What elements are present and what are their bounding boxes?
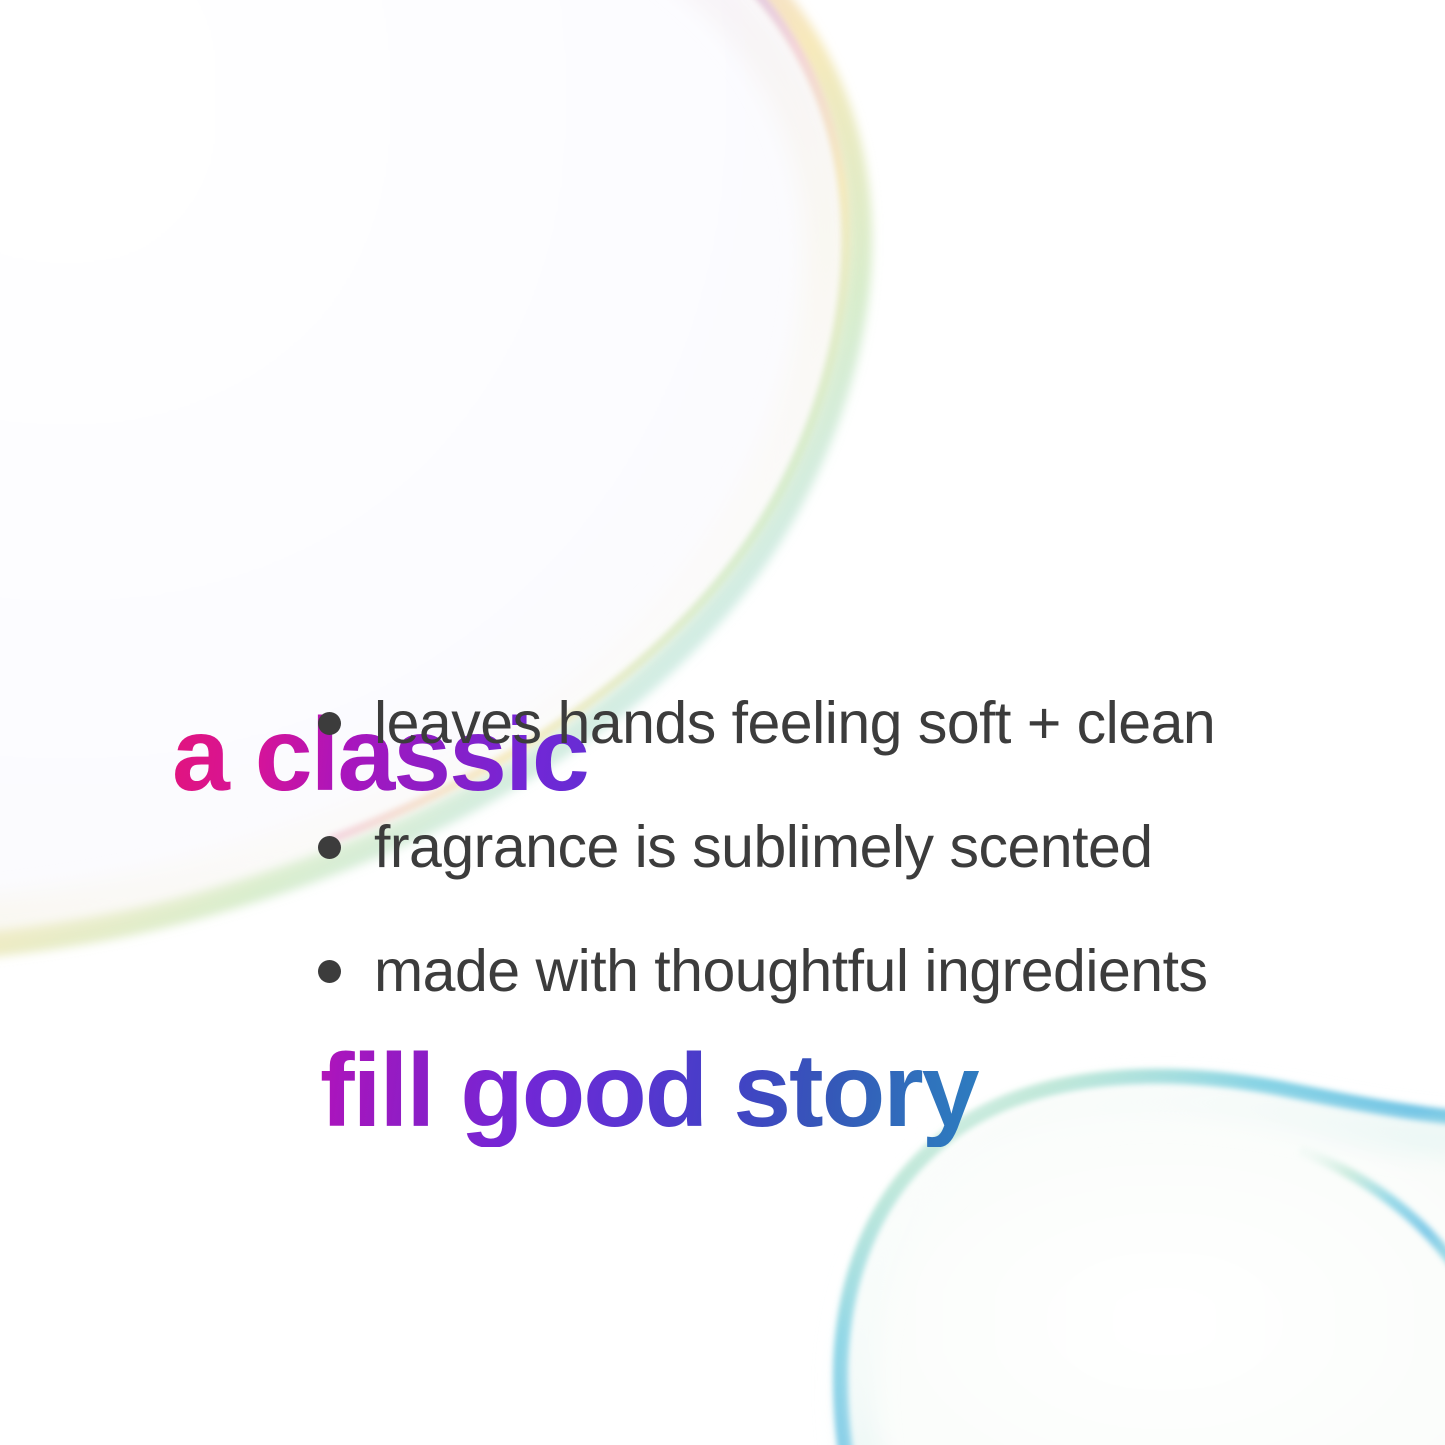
- headline-line-2: fill good story: [320, 1035, 1272, 1147]
- content-area: a classic fill good story leaves hands f…: [0, 0, 1445, 1445]
- bullet-dot-icon: [318, 712, 341, 735]
- list-item: fragrance is sublimely scented: [312, 802, 1322, 892]
- list-item-label: leaves hands feeling soft + clean: [374, 678, 1322, 768]
- feature-bullet-list: leaves hands feeling soft + clean fragra…: [312, 678, 1322, 1016]
- list-item-label: fragrance is sublimely scented: [374, 802, 1322, 892]
- list-item: leaves hands feeling soft + clean: [312, 678, 1322, 768]
- list-item: made with thoughtful ingredients: [312, 926, 1322, 1016]
- list-item-label: made with thoughtful ingredients: [374, 926, 1322, 1016]
- bullet-dot-icon: [318, 960, 341, 983]
- bullet-dot-icon: [318, 836, 341, 859]
- product-feature-card: a classic fill good story leaves hands f…: [0, 0, 1445, 1445]
